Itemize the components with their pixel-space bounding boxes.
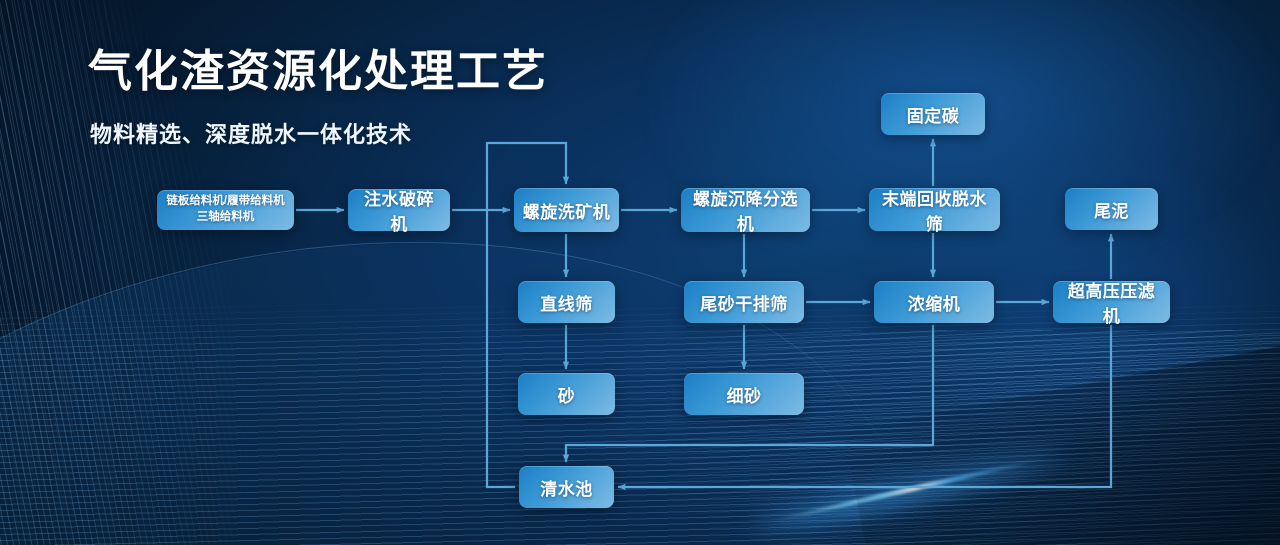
node-thickener[interactable]: 浓缩机 — [874, 281, 994, 323]
slide-canvas: 气化渣资源化处理工艺 物料精选、深度脱水一体化技术 — [0, 0, 1280, 545]
node-spiral-separator-label: 螺旋沉降分选机 — [689, 185, 802, 235]
node-press-filter[interactable]: 超高压压滤机 — [1053, 281, 1170, 323]
node-linear-screen-label: 直线筛 — [540, 290, 593, 315]
node-fine-sand[interactable]: 细砂 — [684, 373, 804, 415]
node-feeder[interactable]: 链板给料机/履带给料机 三轴给料机 — [157, 190, 294, 230]
node-spiral-washer-label: 螺旋洗矿机 — [523, 198, 611, 223]
node-end-recovery-screen[interactable]: 末端回收脱水筛 — [869, 188, 1000, 231]
node-fine-sand-label: 细砂 — [727, 382, 762, 407]
node-feeder-label-line1: 链板给料机/履带给料机 — [166, 195, 284, 207]
node-end-recovery-screen-label: 末端回收脱水筛 — [877, 185, 992, 235]
node-clear-water-pool[interactable]: 清水池 — [519, 466, 614, 508]
node-spiral-washer[interactable]: 螺旋洗矿机 — [514, 188, 619, 232]
node-sand-label: 砂 — [558, 382, 576, 407]
node-clear-water-pool-label: 清水池 — [540, 475, 593, 500]
node-spiral-separator[interactable]: 螺旋沉降分选机 — [681, 188, 810, 232]
node-tailings-dry-screen-label: 尾砂干排筛 — [700, 290, 788, 315]
node-fixed-carbon-label: 固定碳 — [907, 102, 960, 127]
node-tailings-dry-screen[interactable]: 尾砂干排筛 — [684, 281, 804, 323]
node-tail-mud[interactable]: 尾泥 — [1065, 188, 1158, 230]
node-feeder-label: 链板给料机/履带给料机 三轴给料机 — [166, 194, 284, 225]
node-linear-screen[interactable]: 直线筛 — [518, 281, 615, 323]
node-feeder-label-line2: 三轴给料机 — [166, 210, 284, 226]
node-press-filter-label: 超高压压滤机 — [1061, 277, 1162, 327]
node-fixed-carbon[interactable]: 固定碳 — [881, 93, 985, 135]
node-crusher-label: 注水破碎机 — [356, 185, 442, 235]
node-sand[interactable]: 砂 — [518, 373, 615, 415]
node-tail-mud-label: 尾泥 — [1094, 197, 1129, 222]
process-flowchart: 链板给料机/履带给料机 三轴给料机 注水破碎机 螺旋洗矿机 螺旋沉降分选机 末端… — [0, 0, 1280, 545]
flowchart-connectors — [0, 0, 1280, 545]
node-thickener-label: 浓缩机 — [908, 290, 961, 315]
node-crusher[interactable]: 注水破碎机 — [348, 189, 450, 231]
